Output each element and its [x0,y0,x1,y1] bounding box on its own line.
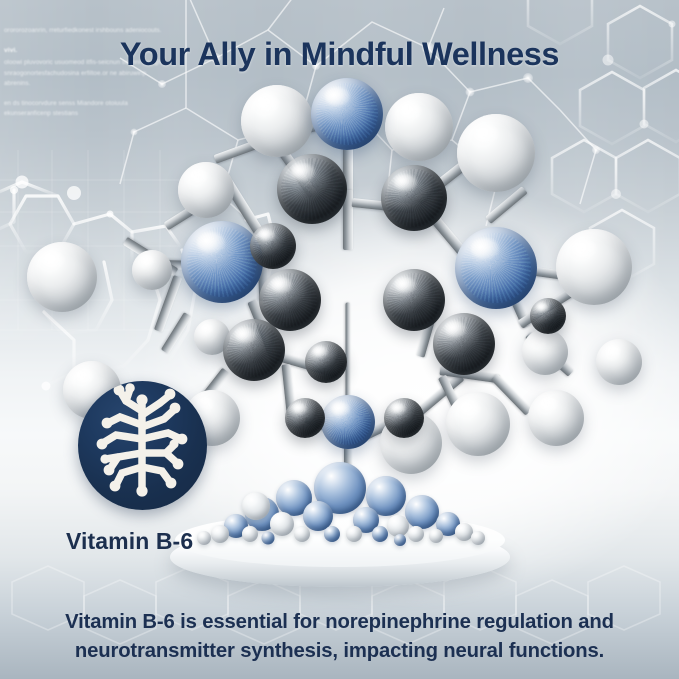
bond [485,186,528,224]
atom-carbon [381,165,447,231]
atom-blue [321,395,375,449]
atom-white [27,242,97,312]
atom-white [528,390,584,446]
atom-carbon [305,341,347,383]
atom-white [178,162,234,218]
atom-carbon [223,319,285,381]
caption-line-2: neurotransmitter synthesis, impacting ne… [0,637,679,666]
atom-carbon [285,398,325,438]
atom-carbon [530,298,566,334]
caption-line-1: Vitamin B-6 is essential for norepinephr… [0,608,679,637]
atom-blue [311,78,383,150]
atom-carbon [384,398,424,438]
atom-blue [455,227,537,309]
sphere-pile [190,468,490,544]
page-title: Your Ally in Mindful Wellness [0,36,679,73]
atom-white [596,339,642,385]
atom-carbon [250,223,296,269]
caption-text: Vitamin B-6 is essential for norepinephr… [0,608,679,666]
atom-carbon [383,269,445,331]
atom-white [132,250,172,290]
atom-white [522,329,568,375]
neuron-branch-icon [78,381,207,510]
atom-white [385,93,453,161]
vitamin-badge [78,381,207,510]
vitamin-name-label: Vitamin B-6 [66,528,193,555]
atom-blue [181,221,263,303]
atom-white [446,392,510,456]
atom-carbon [277,154,347,224]
atom-carbon [433,313,495,375]
atom-white [241,85,313,157]
atom-white [556,229,632,305]
poster-canvas: orororozoanrin, rreturfiedkonest irshbou… [0,0,679,679]
atom-white [457,114,535,192]
